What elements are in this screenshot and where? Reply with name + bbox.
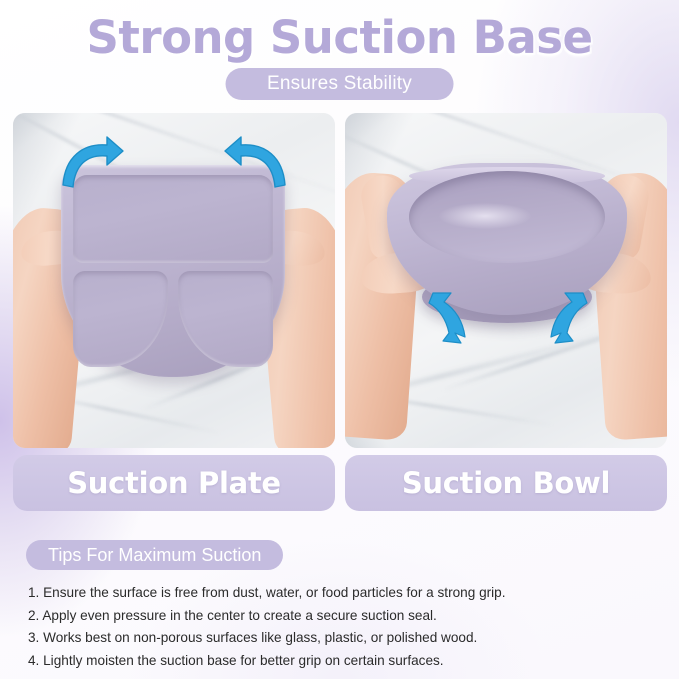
tip-item: 3. Works best on non-porous surfaces lik… — [28, 627, 658, 650]
caption-text: Suction Bowl — [402, 466, 610, 500]
tip-item: 2. Apply even pressure in the center to … — [28, 605, 658, 628]
infographic-page: Strong Suction Base Ensures Stability — [0, 0, 679, 679]
tip-item: 4. Lightly moisten the suction base for … — [28, 650, 658, 673]
subtitle-badge: Ensures Stability — [225, 68, 454, 100]
bowl-highlight — [439, 203, 531, 229]
caption-suction-plate: Suction Plate — [13, 455, 335, 511]
caption-suction-bowl: Suction Bowl — [345, 455, 667, 511]
tips-heading-badge: Tips For Maximum Suction — [26, 540, 283, 570]
suction-plate-product — [61, 165, 285, 377]
caption-text: Suction Plate — [67, 466, 281, 500]
page-title: Strong Suction Base — [0, 12, 679, 64]
header: Strong Suction Base Ensures Stability — [0, 0, 679, 110]
tip-item: 1. Ensure the surface is free from dust,… — [28, 582, 658, 605]
subtitle-text: Ensures Stability — [267, 73, 412, 95]
panel-suction-plate — [13, 113, 335, 448]
tips-list: 1. Ensure the surface is free from dust,… — [28, 582, 658, 672]
plate-compartment-top — [73, 175, 273, 263]
tips-heading-text: Tips For Maximum Suction — [48, 545, 261, 566]
panel-suction-bowl — [345, 113, 667, 448]
